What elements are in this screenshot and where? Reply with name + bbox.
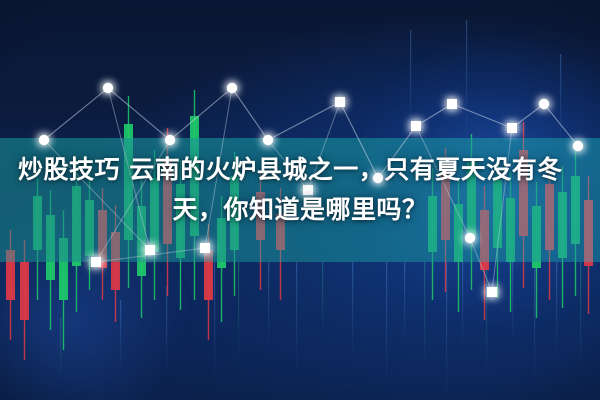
network-node-square xyxy=(507,123,517,133)
network-node-square xyxy=(335,97,345,107)
banner-title: 炒股技巧 云南的火炉县城之一，只有夏天没有冬 天，你知道是哪里吗？ xyxy=(0,150,600,230)
network-edge xyxy=(470,238,492,292)
network-edge xyxy=(232,88,268,140)
network-node-square xyxy=(200,243,210,253)
stock-article-banner: 炒股技巧 云南的火炉县城之一，只有夏天没有冬 天，你知道是哪里吗？ xyxy=(0,0,600,400)
network-node-circle xyxy=(165,135,175,145)
network-edge xyxy=(452,104,512,128)
network-node-circle xyxy=(465,233,475,243)
network-node-circle xyxy=(103,83,113,93)
network-node-square xyxy=(411,121,421,131)
network-node-square xyxy=(447,99,457,109)
network-node-circle xyxy=(39,135,49,145)
network-node-circle xyxy=(539,99,549,109)
network-node-square xyxy=(487,287,497,297)
title-line-1: 炒股技巧 云南的火炉县城之一，只有夏天没有冬 xyxy=(12,150,588,190)
network-edge xyxy=(416,104,452,126)
network-node-circle xyxy=(227,83,237,93)
title-line-2: 天，你知道是哪里吗？ xyxy=(12,190,588,230)
network-edge xyxy=(44,88,108,140)
network-node-square xyxy=(145,245,155,255)
network-edge xyxy=(544,104,578,146)
network-node-circle xyxy=(263,135,273,145)
network-edge xyxy=(108,88,170,140)
network-edge xyxy=(170,88,232,140)
network-node-square xyxy=(91,257,101,267)
network-edge xyxy=(268,102,340,140)
